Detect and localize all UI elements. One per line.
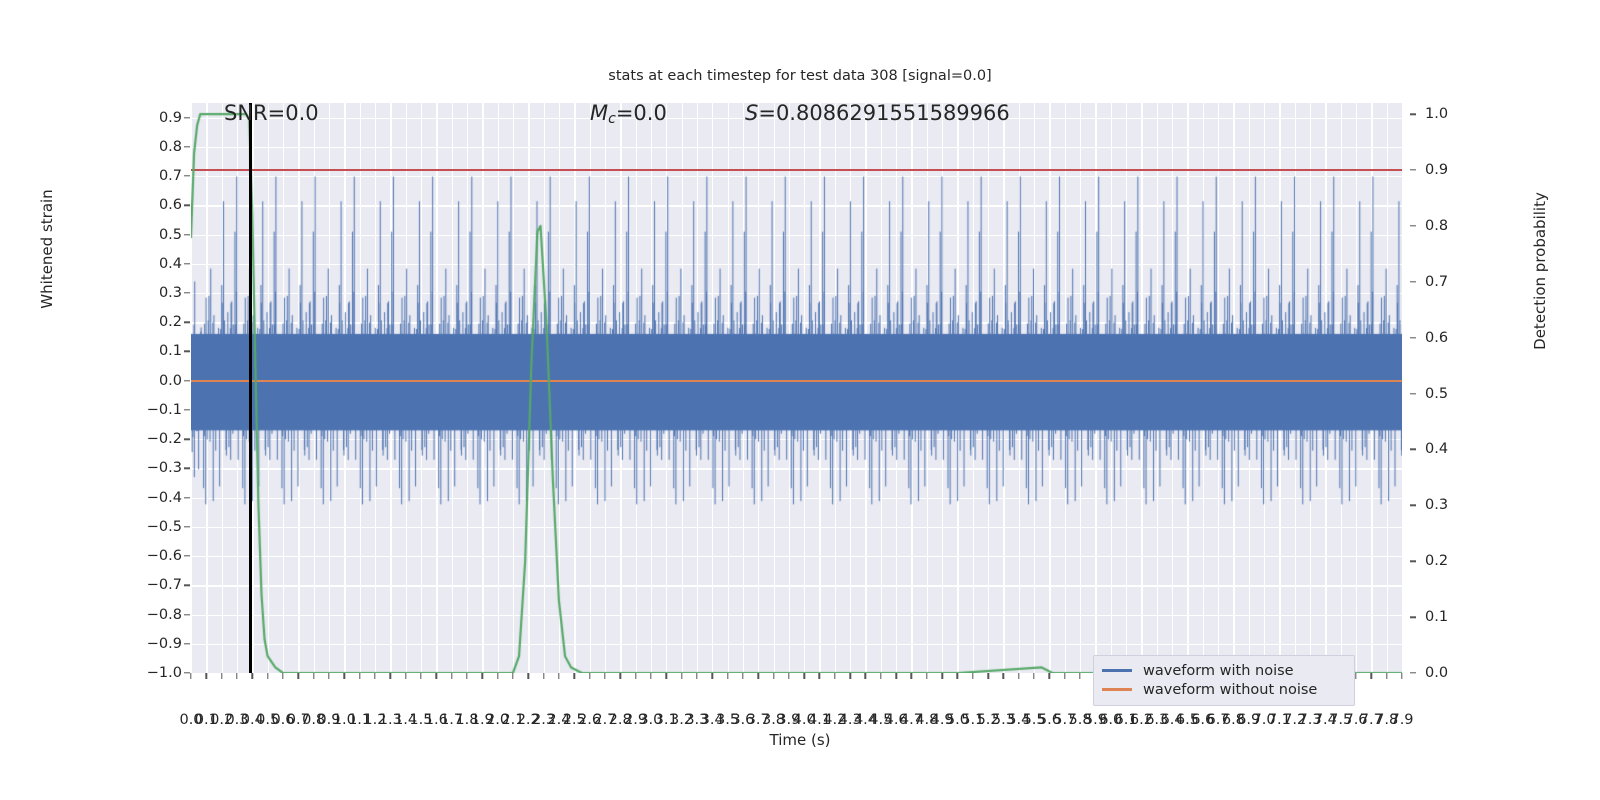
x-tick-mark <box>620 673 621 679</box>
y-tick-mark-right <box>1410 449 1416 450</box>
x-tick-mark <box>941 673 942 679</box>
y-tick-mark-right <box>1410 281 1416 282</box>
x-tick-mark <box>911 673 912 679</box>
x-tick-mark <box>374 673 375 679</box>
y-tick-label-left: −1.0 <box>147 665 182 681</box>
x-tick-mark <box>849 673 850 679</box>
y-tick-mark-right <box>1410 505 1416 506</box>
y-tick-mark-left <box>184 263 190 264</box>
y-tick-label-left: −0.4 <box>147 490 182 506</box>
y-tick-mark-left <box>184 380 190 381</box>
x-tick-mark <box>282 673 283 679</box>
x-tick-mark <box>221 673 222 679</box>
y-tick-mark-left <box>184 555 190 556</box>
y-tick-mark-right <box>1410 337 1416 338</box>
y-tick-label-left: −0.2 <box>147 431 182 447</box>
y-tick-label-left: 0.3 <box>159 285 182 301</box>
x-tick-mark <box>512 673 513 679</box>
x-tick-mark <box>482 673 483 679</box>
y-tick-mark-left <box>184 526 190 527</box>
x-tick-mark <box>834 673 835 679</box>
x-tick-mark <box>788 673 789 679</box>
x-tick-mark <box>1371 673 1372 679</box>
legend: waveform with noisewaveform without nois… <box>1093 655 1355 706</box>
annotation-statistic: S=0.8086291551589966 <box>745 101 1010 125</box>
y-axis-label-left: Whitened strain <box>38 139 56 359</box>
y-tick-label-left: −0.7 <box>147 577 182 593</box>
x-tick-mark <box>328 673 329 679</box>
y-tick-label-right: 0.8 <box>1425 218 1448 234</box>
x-tick-mark <box>819 673 820 679</box>
y-tick-label-left: 0.6 <box>159 197 182 213</box>
y-tick-label-right: 1.0 <box>1425 106 1448 122</box>
y-tick-label-left: 0.0 <box>159 373 182 389</box>
legend-color-swatch <box>1102 669 1132 671</box>
y-tick-label-left: 0.1 <box>159 343 182 359</box>
x-tick-mark <box>880 673 881 679</box>
probability-curve-canvas <box>191 103 1402 673</box>
y-tick-mark-left <box>184 322 190 323</box>
y-tick-mark-left <box>184 234 190 235</box>
y-tick-label-left: −0.3 <box>147 460 182 476</box>
legend-item: waveform without noise <box>1102 680 1346 699</box>
x-tick-mark <box>543 673 544 679</box>
x-tick-mark <box>236 673 237 679</box>
y-tick-mark-left <box>184 672 190 673</box>
y-tick-label-left: −0.8 <box>147 607 182 623</box>
y-tick-mark-right <box>1410 616 1416 617</box>
y-tick-mark-right <box>1410 393 1416 394</box>
y-tick-label-left: −0.9 <box>147 636 182 652</box>
x-tick-mark <box>206 673 207 679</box>
y-tick-label-right: 0.5 <box>1425 386 1448 402</box>
y-tick-mark-left <box>184 351 190 352</box>
x-tick-mark <box>987 673 988 679</box>
x-tick-mark <box>865 673 866 679</box>
x-tick-mark <box>681 673 682 679</box>
x-tick-mark <box>742 673 743 679</box>
x-tick-mark <box>267 673 268 679</box>
x-tick-mark <box>1386 673 1387 679</box>
x-tick-mark <box>1064 673 1065 679</box>
x-tick-mark <box>528 673 529 679</box>
legend-color-swatch <box>1102 688 1132 690</box>
plot-area <box>191 103 1402 673</box>
y-tick-mark-left <box>184 146 190 147</box>
y-tick-mark-right <box>1410 225 1416 226</box>
annotation-mc-subscript: c <box>608 111 616 127</box>
y-tick-label-left: 0.5 <box>159 227 182 243</box>
y-tick-mark-left <box>184 468 190 469</box>
x-tick-mark <box>451 673 452 679</box>
y-tick-label-right: 0.2 <box>1425 553 1448 569</box>
chart-title: stats at each timestep for test data 308… <box>0 68 1600 84</box>
y-tick-mark-left <box>184 497 190 498</box>
annotation-mc-value: =0.0 <box>616 101 667 125</box>
y-tick-label-left: 0.2 <box>159 314 182 330</box>
x-tick-mark <box>635 673 636 679</box>
x-tick-mark <box>344 673 345 679</box>
y-tick-mark-right <box>1410 672 1416 673</box>
legend-label: waveform with noise <box>1143 663 1294 679</box>
legend-item: waveform with noise <box>1102 661 1346 680</box>
annotation-snr-value: 0.0 <box>285 101 318 125</box>
y-tick-label-right: 0.6 <box>1425 330 1448 346</box>
y-tick-label-left: −0.6 <box>147 548 182 564</box>
x-tick-mark <box>773 673 774 679</box>
y-tick-label-left: 0.4 <box>159 256 182 272</box>
x-tick-mark <box>1033 673 1034 679</box>
annotation-snr: SNR=0.0 <box>224 101 319 125</box>
x-tick-mark <box>972 673 973 679</box>
y-tick-label-left: 0.7 <box>159 168 182 184</box>
x-tick-mark <box>1401 673 1402 679</box>
legend-label: waveform without noise <box>1143 682 1317 698</box>
y-tick-label-right: 0.1 <box>1425 609 1448 625</box>
y-axis-label-right: Detection probability <box>1531 161 1549 381</box>
annotation-mc-symbol: M <box>590 101 608 125</box>
y-tick-mark-right <box>1410 113 1416 114</box>
y-tick-label-right: 0.3 <box>1425 497 1448 513</box>
x-tick-mark <box>190 673 191 679</box>
x-tick-mark <box>650 673 651 679</box>
y-tick-label-left: 0.9 <box>159 110 182 126</box>
x-tick-mark <box>1018 673 1019 679</box>
x-tick-mark <box>1079 673 1080 679</box>
x-tick-mark <box>298 673 299 679</box>
x-tick-mark <box>1355 673 1356 679</box>
x-tick-mark <box>558 673 559 679</box>
x-tick-mark <box>252 673 253 679</box>
y-tick-label-left: 0.8 <box>159 139 182 155</box>
y-tick-label-left: −0.1 <box>147 402 182 418</box>
y-tick-mark-left <box>184 409 190 410</box>
y-tick-mark-right <box>1410 561 1416 562</box>
x-tick-mark <box>957 673 958 679</box>
annotation-s-symbol: S <box>745 101 758 125</box>
y-tick-label-right: 0.0 <box>1425 665 1448 681</box>
x-tick-mark <box>436 673 437 679</box>
x-tick-mark <box>390 673 391 679</box>
x-tick-mark <box>711 673 712 679</box>
x-tick-mark <box>1003 673 1004 679</box>
annotation-chirp-mass: Mc=0.0 <box>590 101 667 127</box>
x-tick-mark <box>420 673 421 679</box>
annotation-snr-label: SNR= <box>224 101 285 125</box>
x-tick-mark <box>589 673 590 679</box>
x-tick-mark <box>665 673 666 679</box>
x-tick-mark <box>926 673 927 679</box>
x-tick-mark <box>895 673 896 679</box>
y-tick-mark-left <box>184 585 190 586</box>
y-tick-mark-left <box>184 614 190 615</box>
x-tick-mark <box>1049 673 1050 679</box>
y-tick-label-right: 0.4 <box>1425 441 1448 457</box>
y-tick-label-left: −0.5 <box>147 519 182 535</box>
x-tick-mark <box>604 673 605 679</box>
x-axis-label: Time (s) <box>0 731 1600 749</box>
x-tick-mark <box>696 673 697 679</box>
x-tick-mark <box>405 673 406 679</box>
y-tick-mark-left <box>184 117 190 118</box>
y-tick-mark-right <box>1410 169 1416 170</box>
x-tick-mark <box>466 673 467 679</box>
x-tick-mark <box>313 673 314 679</box>
y-tick-label-right: 0.7 <box>1425 274 1448 290</box>
y-tick-mark-left <box>184 643 190 644</box>
x-tick-mark <box>497 673 498 679</box>
y-tick-mark-left <box>184 205 190 206</box>
x-tick-mark <box>727 673 728 679</box>
x-tick-mark <box>803 673 804 679</box>
figure: stats at each timestep for test data 308… <box>0 0 1600 800</box>
trigger-vline <box>249 103 251 673</box>
y-tick-mark-left <box>184 438 190 439</box>
y-tick-mark-left <box>184 175 190 176</box>
y-tick-label-right: 0.9 <box>1425 162 1448 178</box>
y-tick-mark-left <box>184 292 190 293</box>
x-tick-mark <box>359 673 360 679</box>
x-tick-mark <box>574 673 575 679</box>
x-tick-mark <box>757 673 758 679</box>
annotation-s-value: =0.8086291551589966 <box>758 101 1009 125</box>
x-tick-label: 7.9 <box>1390 712 1413 728</box>
